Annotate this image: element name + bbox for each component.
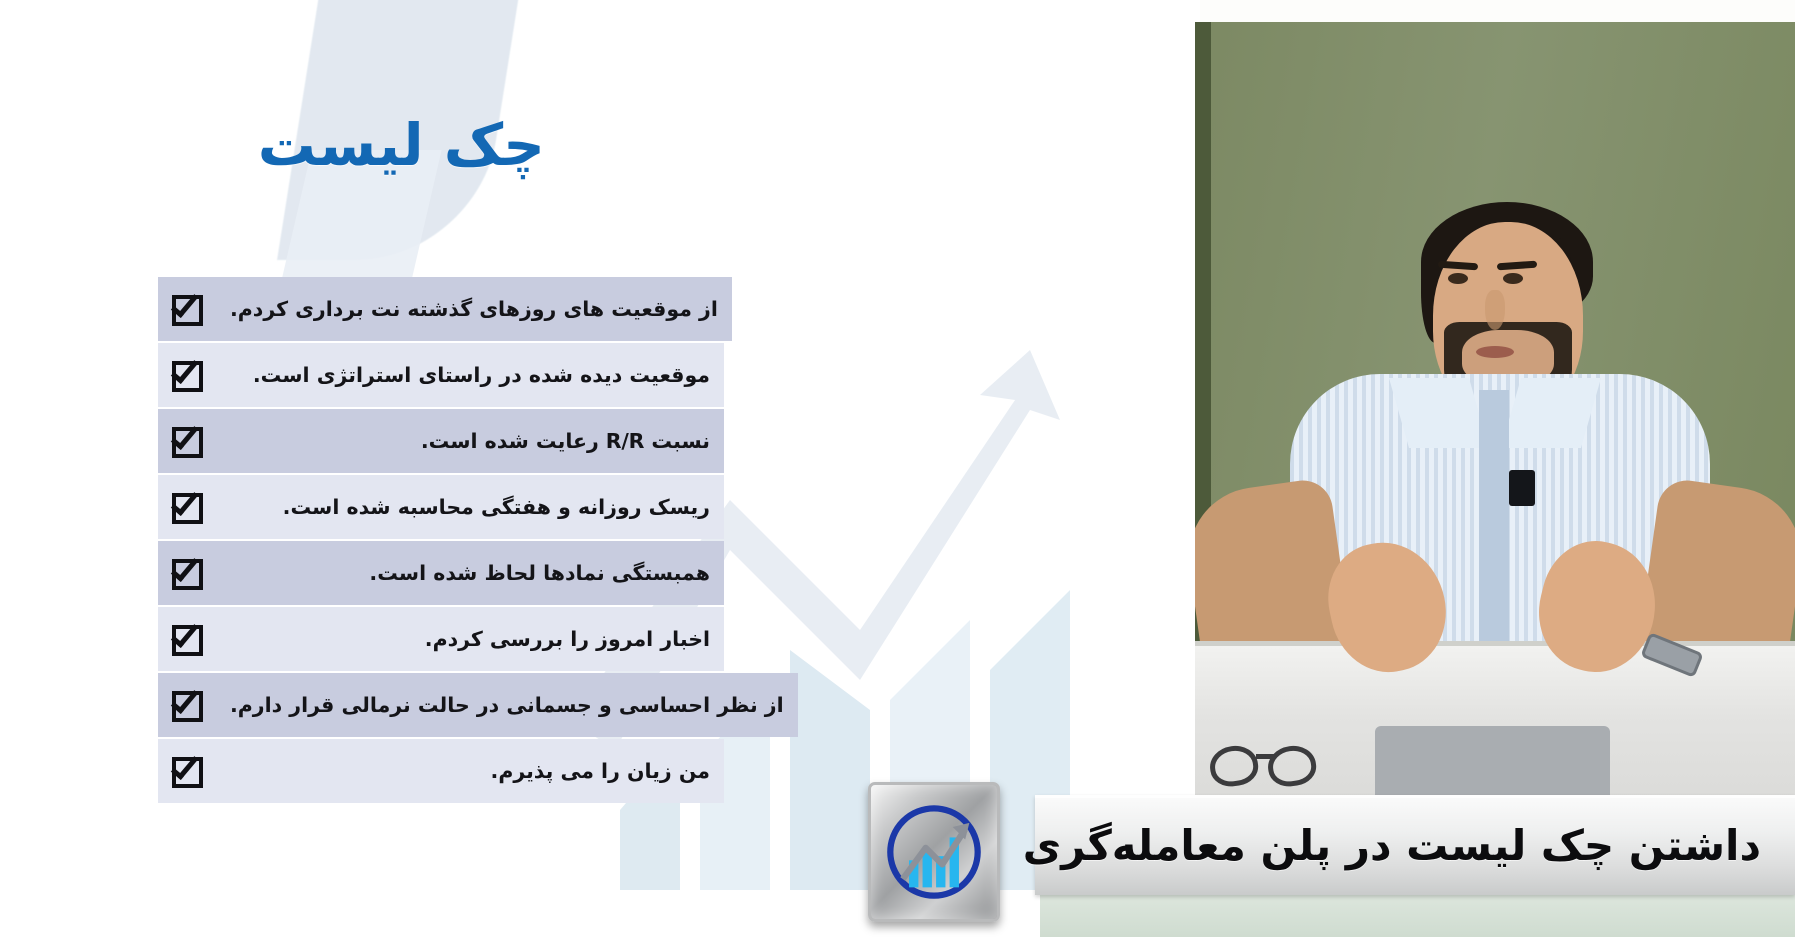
checklist-item-label: موقعیت دیده شده در راستای استراتژی است. [220, 343, 724, 407]
checkmark-glyph [172, 424, 206, 458]
checkmark-glyph [172, 490, 206, 524]
checkmark-glyph [172, 556, 206, 590]
checklist-item-label: ریسک روزانه و هفتگی محاسبه شده است. [220, 475, 724, 539]
checklist-row[interactable]: نسبت R/R رعایت شده است. [158, 409, 724, 473]
checked-checkbox-icon[interactable] [158, 409, 220, 473]
checklist-table: از موقعیت های روزهای گذشته نت برداری کرد… [158, 277, 724, 803]
checked-checkbox-icon[interactable] [158, 277, 220, 341]
checklist-item-label: من زیان را می پذیرم. [220, 739, 724, 803]
checklist-item-label: اخبار امروز را بررسی کردم. [220, 607, 724, 671]
presenter-mouth [1476, 346, 1514, 358]
slide-title: چک لیست [258, 112, 545, 179]
checked-checkbox-icon[interactable] [158, 673, 220, 737]
lapel-microphone-icon [1509, 470, 1535, 506]
caption-title: داشتن چک لیست در پلن معامله‌گری [1023, 821, 1761, 870]
caption-bar: داشتن چک لیست در پلن معامله‌گری [1035, 795, 1795, 895]
checked-checkbox-icon[interactable] [158, 607, 220, 671]
checklist-row[interactable]: ریسک روزانه و هفتگی محاسبه شده است. [158, 475, 724, 539]
trading-chart-logo-icon [882, 800, 986, 904]
desk-edge [1195, 641, 1795, 646]
checkmark-glyph [172, 688, 206, 722]
eyeglasses-icon [1210, 746, 1330, 788]
checklist-item-label: نسبت R/R رعایت شده است. [220, 409, 724, 473]
laptop-icon [1375, 726, 1610, 796]
slide-stage: چک لیست از موقعیت های روزهای گذشته نت بر… [0, 0, 1795, 937]
checked-checkbox-icon[interactable] [158, 343, 220, 407]
eyeglasses-bridge [1256, 754, 1274, 759]
eyeglasses-lens-left [1207, 743, 1260, 789]
checklist-item-label: از نظر احساسی و جسمانی در حالت نرمالی قر… [220, 673, 798, 737]
brand-logo-badge [868, 782, 1000, 922]
checkmark-glyph [172, 622, 206, 656]
eyeglasses-lens-right [1265, 743, 1318, 789]
checklist-row[interactable]: همبستگی نمادها لحاظ شده است. [158, 541, 724, 605]
checklist-row[interactable]: از نظر احساسی و جسمانی در حالت نرمالی قر… [158, 673, 724, 737]
checked-checkbox-icon[interactable] [158, 739, 220, 803]
checklist-item-label: همبستگی نمادها لحاظ شده است. [220, 541, 724, 605]
checklist-item-label: از موقعیت های روزهای گذشته نت برداری کرد… [220, 277, 732, 341]
presenter-video-panel[interactable] [1195, 22, 1795, 822]
presentation-slide: چک لیست از موقعیت های روزهای گذشته نت بر… [0, 0, 1200, 937]
checkmark-glyph [172, 292, 206, 326]
checklist-row[interactable]: از موقعیت های روزهای گذشته نت برداری کرد… [158, 277, 724, 341]
presenter-nose [1485, 290, 1505, 330]
checklist-row[interactable]: اخبار امروز را بررسی کردم. [158, 607, 724, 671]
checkmark-glyph [172, 754, 206, 788]
checked-checkbox-icon[interactable] [158, 541, 220, 605]
checkmark-glyph [172, 358, 206, 392]
checked-checkbox-icon[interactable] [158, 475, 220, 539]
checklist-row[interactable]: من زیان را می پذیرم. [158, 739, 724, 803]
checklist-row[interactable]: موقعیت دیده شده در راستای استراتژی است. [158, 343, 724, 407]
